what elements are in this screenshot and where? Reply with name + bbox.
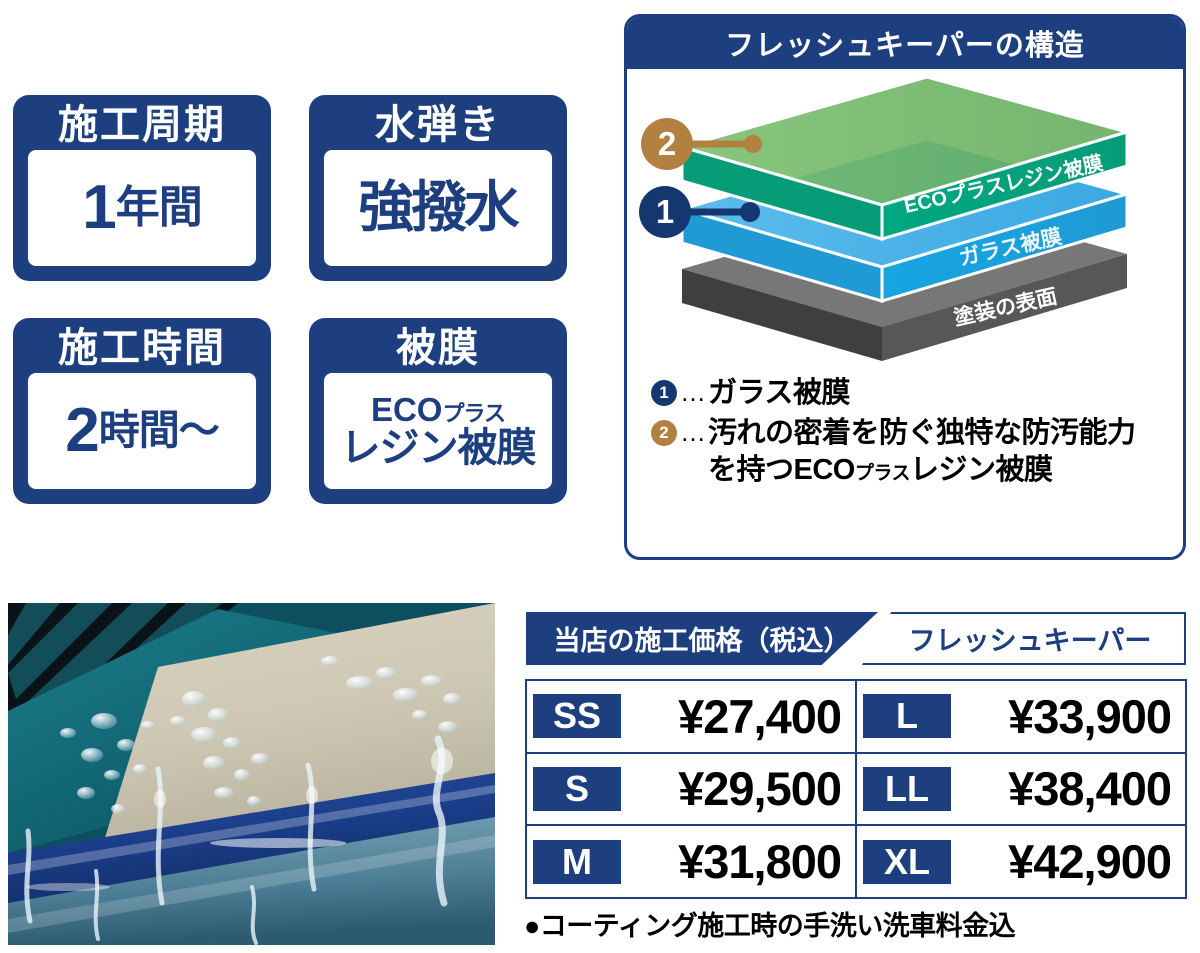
feature-card-title: 水弾き bbox=[375, 103, 501, 148]
legend-text-2: 汚れの密着を防ぐ独特な防汚能力 を持つECOプラスレジン被膜 bbox=[708, 415, 1136, 490]
price-note: ●コーティング施工時の手洗い洗車料金込 bbox=[524, 904, 1015, 943]
advertisement-page: 施工周期 1 年間 水弾き 強撥水 施工時間 2 時間〜 被膜 ECO プラス … bbox=[0, 0, 1200, 953]
layer-diagram-svg: 塗装の表面 ガラス被膜 ECOプラスレジン被膜 bbox=[627, 69, 1183, 369]
feature-card-coating: 被膜 ECO プラス レジン被膜 bbox=[309, 318, 567, 504]
size-badge: XL bbox=[863, 840, 951, 884]
legend-dots: … bbox=[680, 415, 706, 450]
price-row-xl: XL ¥42,900 bbox=[855, 824, 1187, 899]
feature-card-title: 被膜 bbox=[396, 326, 480, 371]
structure-panel-title: フレッシュキーパーの構造 bbox=[627, 17, 1183, 69]
structure-panel: フレッシュキーパーの構造 bbox=[624, 14, 1186, 560]
price-value: ¥38,400 bbox=[951, 761, 1179, 816]
size-badge: SS bbox=[533, 694, 621, 738]
legend-text-1: ガラス被膜 bbox=[708, 375, 850, 413]
price-table: SS ¥27,400 L ¥33,900 S ¥29,500 LL ¥38,40… bbox=[526, 680, 1186, 898]
size-badge: LL bbox=[863, 767, 951, 811]
price-row-m: M ¥31,800 bbox=[525, 824, 857, 899]
feature-value-word: 強撥水 bbox=[358, 180, 517, 235]
price-value: ¥29,500 bbox=[621, 761, 849, 816]
legend-dots: … bbox=[680, 375, 706, 410]
callout-1-number: 1 bbox=[656, 193, 674, 230]
legend-text-2-eco: ECO bbox=[794, 454, 855, 486]
size-badge: L bbox=[863, 694, 951, 738]
feature-card-value: 強撥水 bbox=[322, 148, 554, 268]
feature-card-title: 施工時間 bbox=[58, 326, 226, 371]
legend-badge-1: 1 bbox=[651, 380, 677, 406]
price-row-s: S ¥29,500 bbox=[525, 752, 857, 827]
legend-badge-2: 2 bbox=[651, 420, 677, 446]
feature-card-water: 水弾き 強撥水 bbox=[309, 95, 567, 281]
structure-legend: 1 … ガラス被膜 2 … 汚れの密着を防ぐ独特な防汚能力 を持つECOプラスレ… bbox=[627, 369, 1183, 490]
price-row-ss: SS ¥27,400 bbox=[525, 679, 857, 754]
price-header-right: フレッシュキーパー bbox=[862, 612, 1186, 665]
price-header-left: 当店の施工価格（税込） bbox=[526, 612, 878, 665]
feature-value-number: 2 bbox=[65, 400, 98, 462]
price-value: ¥42,900 bbox=[951, 834, 1179, 889]
size-badge: M bbox=[533, 840, 621, 884]
feature-value-unit: 時間〜 bbox=[99, 410, 219, 451]
price-header: 当店の施工価格（税込） フレッシュキーパー bbox=[526, 612, 1186, 665]
callout-2-number: 2 bbox=[658, 125, 676, 162]
water-beading-photo bbox=[8, 603, 495, 945]
layer-diagram: 塗装の表面 ガラス被膜 ECOプラスレジン被膜 bbox=[627, 69, 1183, 369]
feature-value-plus: プラス bbox=[442, 403, 505, 425]
price-row-ll: LL ¥38,400 bbox=[855, 752, 1187, 827]
feature-card-value: 1 年間 bbox=[26, 148, 258, 268]
feature-value-unit: レジン被膜 bbox=[341, 428, 536, 469]
feature-value-eco: ECO bbox=[371, 393, 443, 427]
price-header-right-label: フレッシュキーパー bbox=[895, 619, 1152, 658]
feature-card-time: 施工時間 2 時間〜 bbox=[13, 318, 271, 504]
feature-card-value: 2 時間〜 bbox=[26, 371, 258, 491]
price-value: ¥33,900 bbox=[951, 689, 1179, 744]
feature-card-value: ECO プラス レジン被膜 bbox=[322, 371, 554, 491]
price-row-l: L ¥33,900 bbox=[855, 679, 1187, 754]
legend-item-1: 1 … ガラス被膜 bbox=[651, 375, 1183, 413]
price-value: ¥27,400 bbox=[621, 689, 849, 744]
feature-card-cycle: 施工周期 1 年間 bbox=[13, 95, 271, 281]
photo-illustration bbox=[8, 603, 495, 945]
legend-text-2-line1: 汚れの密着を防ぐ独特な防汚能力 bbox=[708, 417, 1136, 449]
feature-value-unit: 年間 bbox=[116, 186, 202, 230]
legend-text-2-post: レジン被膜 bbox=[910, 454, 1053, 486]
feature-card-title: 施工周期 bbox=[58, 103, 226, 148]
price-value: ¥31,800 bbox=[621, 834, 849, 889]
price-header-left-label: 当店の施工価格（税込） bbox=[554, 619, 851, 658]
legend-text-2-pre: を持つ bbox=[708, 454, 794, 486]
size-badge: S bbox=[533, 767, 621, 811]
legend-text-2-plus: プラス bbox=[855, 463, 910, 484]
legend-item-2: 2 … 汚れの密着を防ぐ独特な防汚能力 を持つECOプラスレジン被膜 bbox=[651, 415, 1183, 490]
feature-value-number: 1 bbox=[82, 177, 115, 239]
